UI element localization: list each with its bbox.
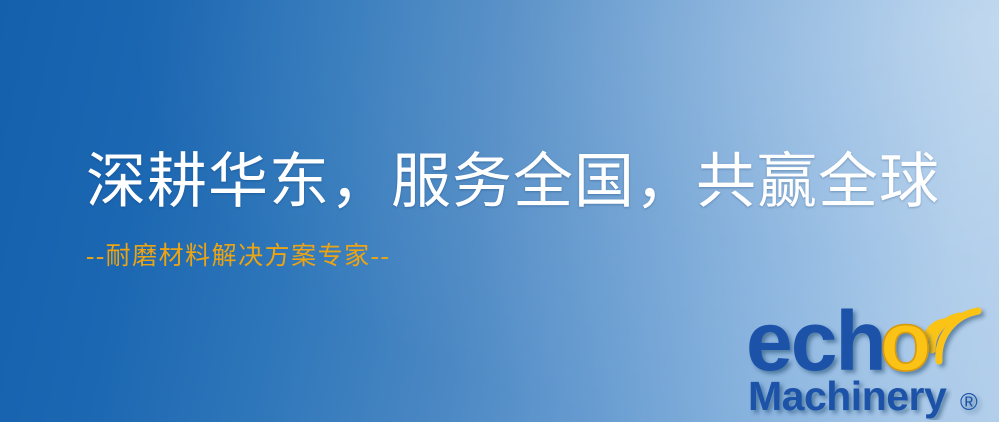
logo-trademark-symbol: ® bbox=[960, 389, 978, 416]
page-title: 深耕华东，服务全国，共赢全球 bbox=[86, 150, 940, 215]
banner-copy: 深耕华东，服务全国，共赢全球 --耐磨材料解决方案专家-- bbox=[86, 150, 940, 270]
echo-machinery-logo: ech o Machinery ® bbox=[744, 292, 994, 420]
signal-waves-icon bbox=[926, 311, 978, 361]
logo-subbrand-machinery: Machinery bbox=[748, 373, 947, 419]
promo-banner: 深耕华东，服务全国，共赢全球 --耐磨材料解决方案专家-- ech o bbox=[0, 0, 999, 422]
banner-subtitle: --耐磨材料解决方案专家-- bbox=[86, 243, 940, 271]
